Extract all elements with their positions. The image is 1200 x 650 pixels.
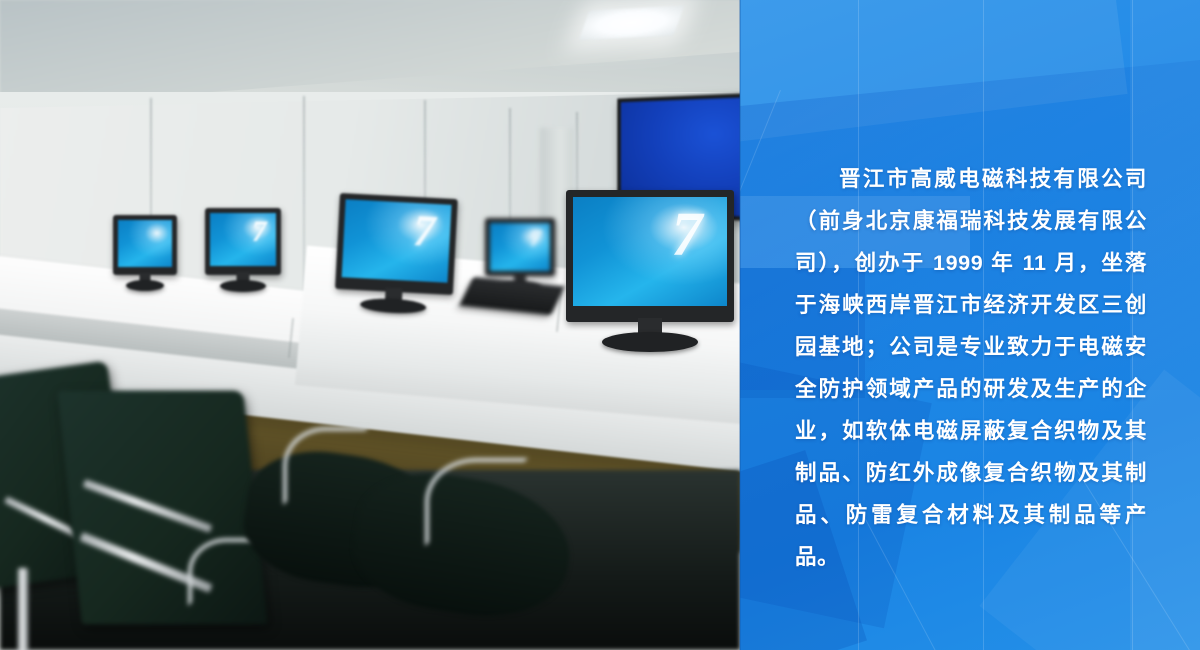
monitor-5: 7 — [566, 190, 734, 355]
ceiling-light-icon — [579, 6, 684, 41]
chair-2 — [70, 390, 255, 625]
windows-seven-logo: 7 — [252, 217, 267, 247]
company-intro-text: 晋江市高威电磁科技有限公司（前身北京康福瑞科技发展有限公司），创办于 1999 … — [795, 158, 1147, 578]
windows-seven-logo: 7 — [530, 227, 542, 251]
monitor-3-screen: 7 — [342, 199, 452, 282]
chair-4 — [355, 478, 570, 613]
monitor-4-screen: 7 — [490, 223, 550, 271]
monitor-1 — [113, 215, 177, 283]
company-intro-panel: 晋江市高威电磁科技有限公司（前身北京康福瑞科技发展有限公司），创办于 1999 … — [740, 0, 1200, 650]
monitor-3: 7 — [334, 193, 458, 311]
monitor-2: 7 — [205, 208, 281, 284]
chair-1-post — [18, 568, 28, 650]
windows-seven-logo: 7 — [671, 204, 702, 266]
monitor-5-screen: 7 — [573, 197, 727, 306]
office-photo: 7 7 7 — [0, 0, 740, 650]
panel-divider — [739, 0, 741, 650]
monitor-1-screen — [118, 220, 172, 267]
company-profile-banner: 7 7 7 — [0, 0, 1200, 650]
windows-seven-logo: 7 — [412, 209, 436, 254]
monitor-2-base — [220, 280, 266, 292]
monitor-5-base — [602, 332, 698, 352]
chair-4-arm — [425, 458, 528, 546]
monitor-2-screen: 7 — [210, 213, 276, 266]
monitor-1-base — [126, 280, 164, 291]
